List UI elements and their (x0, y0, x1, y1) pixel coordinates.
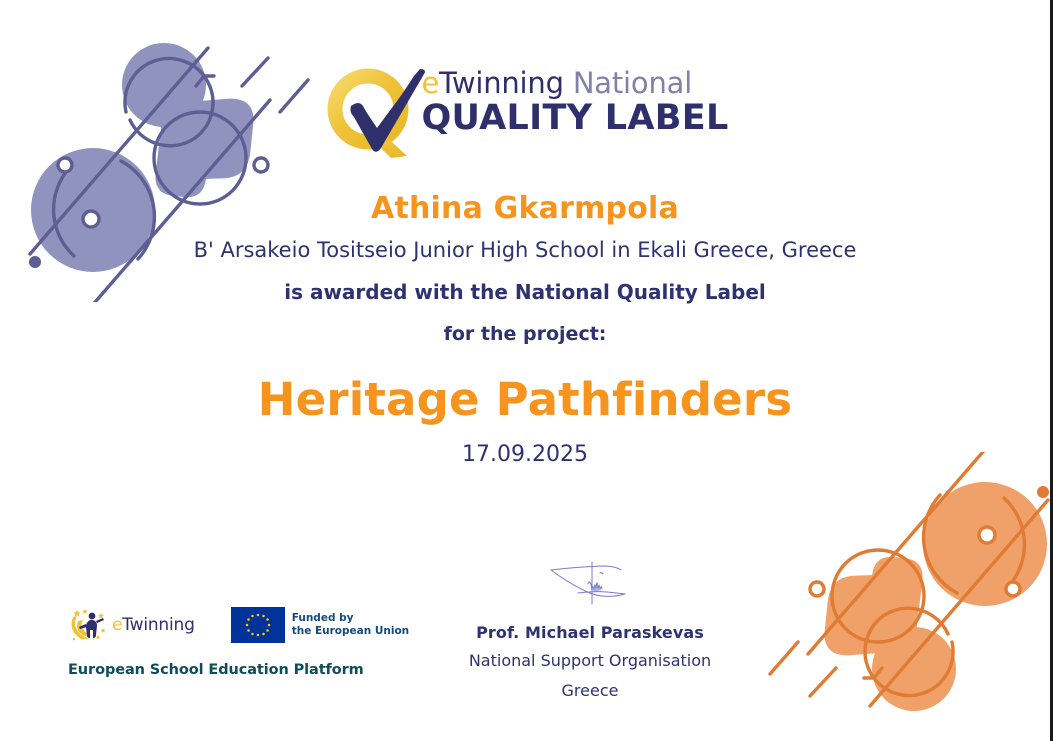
partner-logos-block: eTwinning (68, 604, 398, 678)
etwinning-wordmark: eTwinning (112, 615, 195, 635)
for-the-project-label: for the project: (0, 318, 1050, 350)
recipient-school: B' Arsakeio Tositseio Junior High School… (0, 233, 1050, 267)
ornament-filled-shapes (821, 482, 1047, 711)
header-logo: eTwinningNational QUALITY LABEL (0, 62, 1050, 160)
eu-caption-line-1: Funded by (292, 612, 409, 625)
logo-national: National (573, 66, 692, 100)
certificate-body: Athina Gkarmpola B' Arsakeio Tositseio J… (0, 190, 1050, 470)
etwinning-twinning: Twinning (122, 615, 194, 635)
eu-caption-line-2: the European Union (292, 625, 409, 638)
etwinning-logo: eTwinning (68, 608, 195, 642)
logo-twinning: Twinning (439, 66, 564, 100)
eu-flag-icon (231, 607, 285, 643)
signer-organisation: National Support Organisation (440, 646, 740, 676)
decorative-corner-ornament-bottom-right (760, 452, 1053, 732)
signature-block: Prof. Michael Paraskevas National Suppor… (440, 560, 740, 706)
awarded-statement: is awarded with the National Quality Lab… (0, 276, 1050, 308)
etwinning-e: e (112, 615, 122, 635)
award-date: 17.09.2025 (0, 440, 1050, 470)
etwinning-figure-stars-icon (68, 608, 108, 642)
logo-quality-label: QUALITY LABEL (421, 98, 728, 138)
certificate-page: eTwinningNational QUALITY LABEL Athina G… (0, 0, 1053, 741)
recipient-name: Athina Gkarmpola (0, 190, 1050, 228)
signer-country: Greece (440, 676, 740, 706)
logo-line-one: eTwinningNational (421, 66, 728, 100)
project-title: Heritage Pathfinders (0, 372, 1050, 428)
quality-label-q-checkmark-icon (321, 64, 427, 160)
european-union-logo: Funded by the European Union (231, 607, 409, 643)
logo-e: e (421, 66, 439, 100)
eu-funding-caption: Funded by the European Union (292, 612, 409, 638)
handwritten-signature (545, 560, 635, 612)
european-school-education-platform-name: European School Education Platform (68, 662, 398, 678)
signer-name: Prof. Michael Paraskevas (440, 620, 740, 646)
ornament-line-shapes (770, 452, 1049, 706)
